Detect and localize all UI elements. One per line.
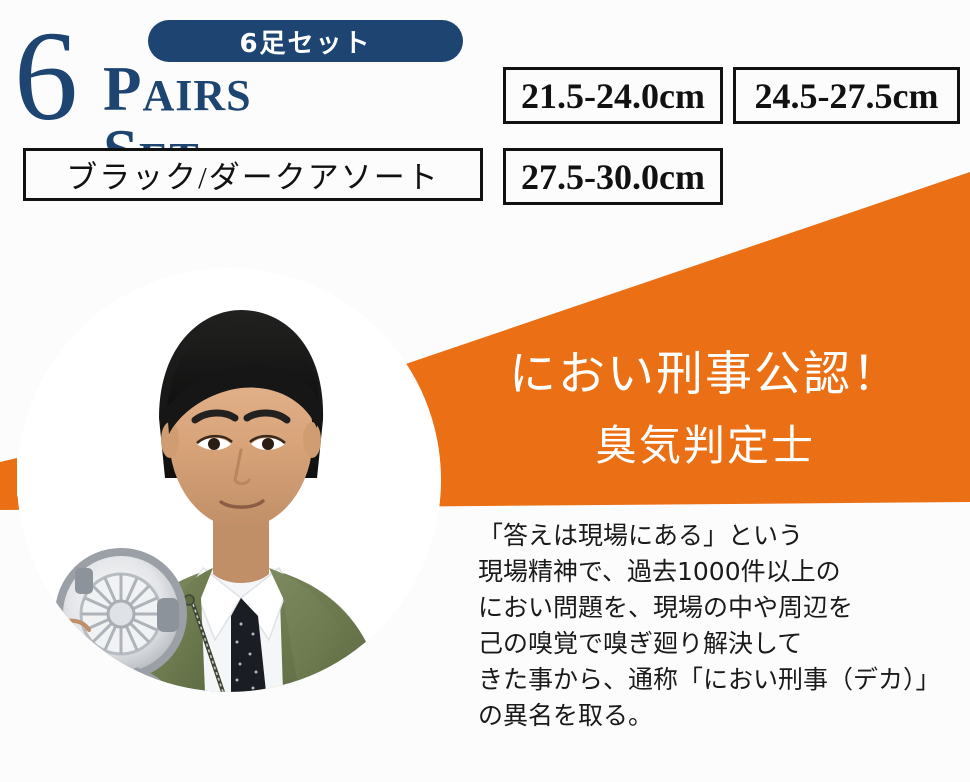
color-option-box[interactable]: ブラック/ダークアソート xyxy=(23,148,483,201)
description-line: 現場精神で、過去1000件以上の xyxy=(478,554,958,590)
description-line: 「答えは現場にある」という xyxy=(478,518,958,554)
pairs-count-number: 6 xyxy=(14,12,78,140)
banner-subheadline: 臭気判定士 xyxy=(455,412,955,473)
set-count-badge-label: 6足セット xyxy=(239,23,371,60)
spokesperson-description: 「答えは現場にある」という 現場精神で、過去1000件以上の におい問題を、現場… xyxy=(478,518,958,734)
size-option-box-3[interactable]: 27.5-30.0cm xyxy=(503,148,723,205)
advertisement-banner: におい刑事公認！ 臭気判定士 xyxy=(0,0,970,782)
spokesperson-portrait xyxy=(17,268,441,692)
size-option-box-2[interactable]: 24.5-27.5cm xyxy=(733,67,960,124)
description-line: におい問題を、現場の中や周辺を xyxy=(478,590,958,626)
size-option-label: 24.5-27.5cm xyxy=(755,75,939,117)
size-option-label: 21.5-24.0cm xyxy=(521,75,705,117)
description-line: きた事から、通称「におい刑事（デカ）」 xyxy=(478,662,958,698)
description-line: 己の嗅覚で嗅ぎ廻り解決して xyxy=(478,626,958,662)
description-line: の異名を取る。 xyxy=(478,698,958,734)
color-option-label: ブラック/ダークアソート xyxy=(66,152,440,197)
portrait-illustration xyxy=(17,268,441,692)
size-option-box-1[interactable]: 21.5-24.0cm xyxy=(503,67,723,124)
set-count-badge: 6足セット xyxy=(148,20,463,62)
size-option-label: 27.5-30.0cm xyxy=(521,156,705,198)
banner-headline: におい刑事公認！ xyxy=(455,335,955,404)
